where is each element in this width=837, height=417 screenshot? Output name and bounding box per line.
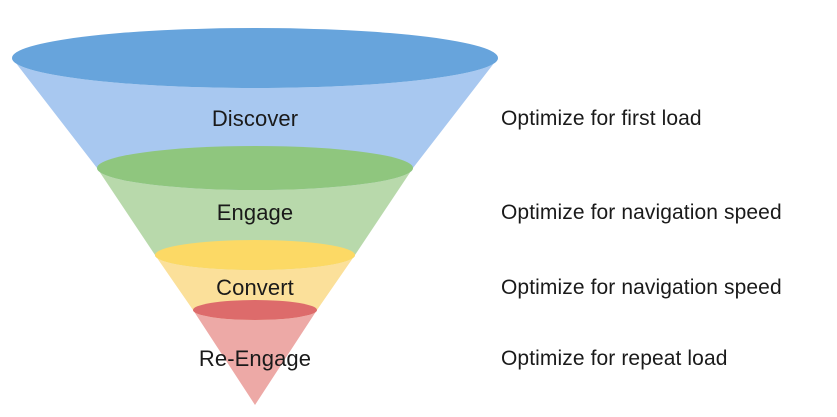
stage-label-engage: Engage — [217, 200, 293, 226]
funnel-cap-engage — [97, 146, 413, 190]
annotation-re-engage: Optimize for repeat load — [501, 347, 728, 371]
funnel-cap-convert — [155, 240, 355, 270]
annotation-convert: Optimize for navigation speed — [501, 276, 782, 300]
funnel-cap-discover — [12, 28, 498, 88]
stage-label-convert: Convert — [216, 275, 294, 301]
annotation-engage: Optimize for navigation speed — [501, 201, 782, 225]
stage-label-re-engage: Re-Engage — [199, 346, 311, 372]
annotation-discover: Optimize for first load — [501, 107, 702, 131]
funnel-cap-re-engage — [193, 300, 317, 320]
stage-label-discover: Discover — [212, 106, 298, 132]
funnel-diagram-canvas: DiscoverEngageConvertRe-Engage Optimize … — [0, 0, 837, 417]
